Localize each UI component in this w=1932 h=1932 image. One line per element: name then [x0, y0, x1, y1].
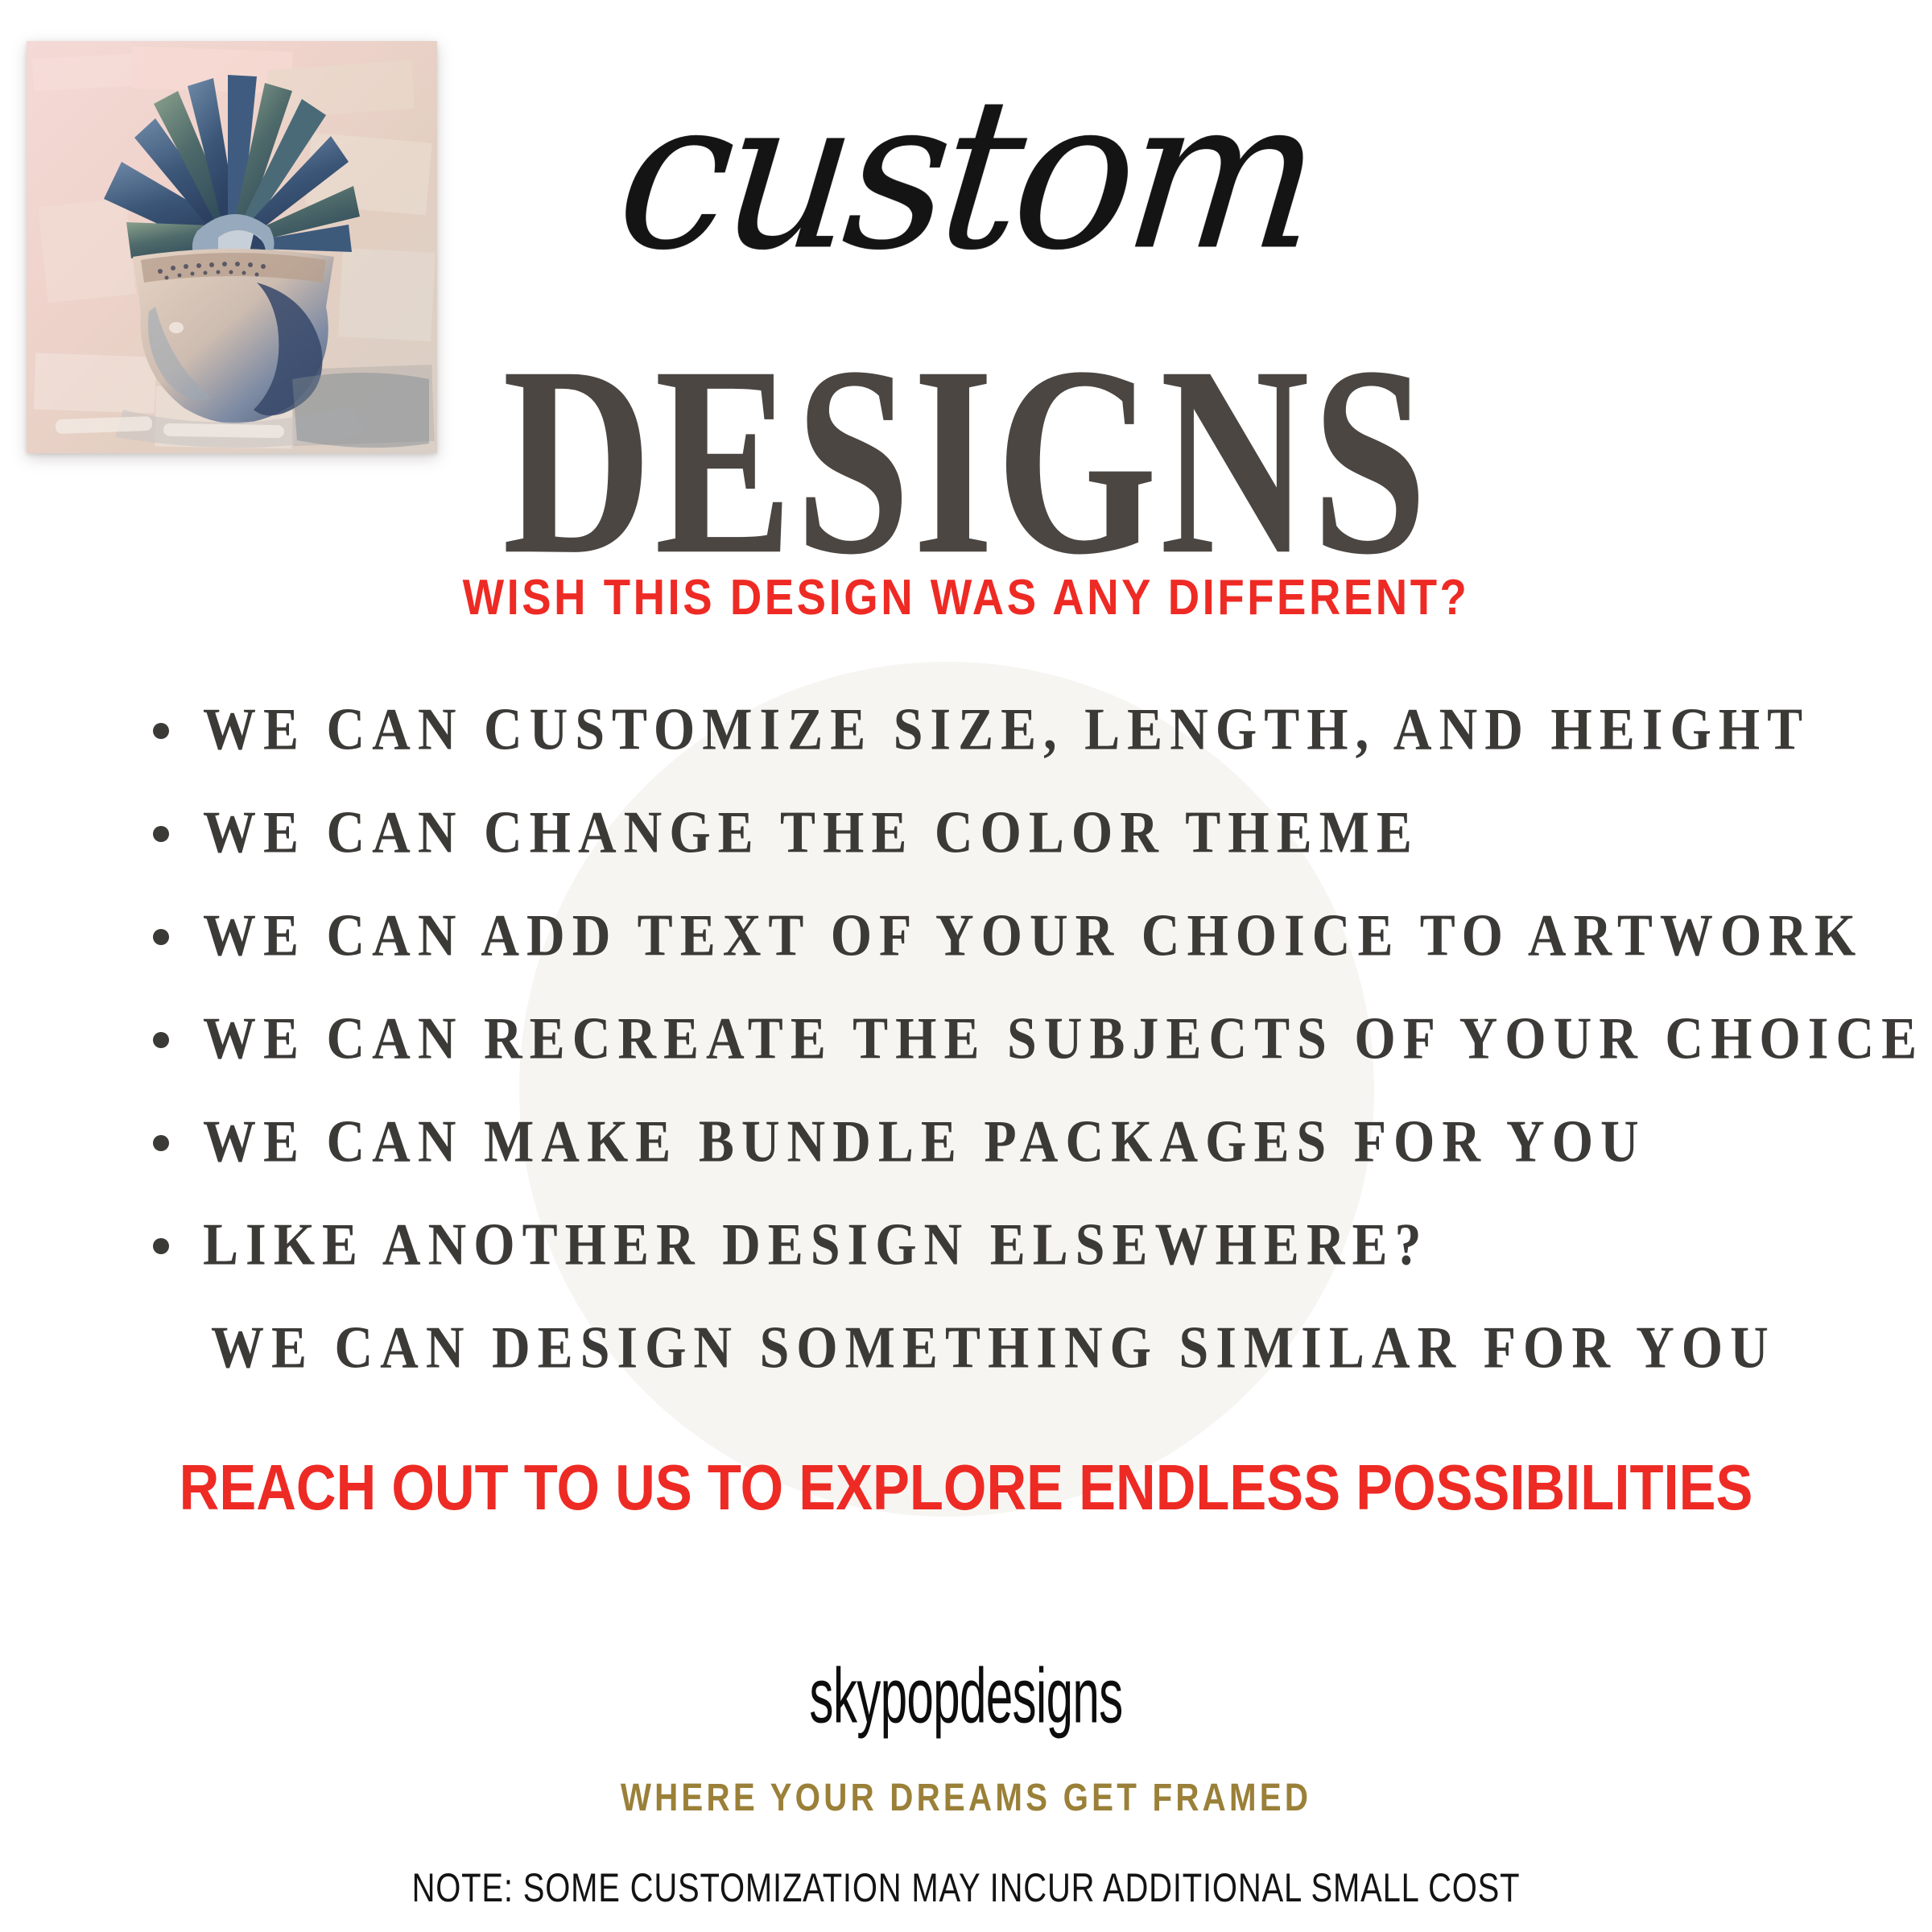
bullet-dot-icon [153, 1135, 169, 1151]
promo-canvas: custom DESIGNS WISH THIS DESIGN WAS ANY … [0, 0, 1932, 1932]
list-item-label: WE CAN CUSTOMIZE SIZE, LENGTH, AND HEIGH… [203, 700, 1810, 760]
list-item: LIKE ANOTHER DESIGN ELSEWHERE? [153, 1222, 1843, 1325]
feature-bullet-list: WE CAN CUSTOMIZE SIZE, LENGTH, AND HEIGH… [153, 707, 1843, 1428]
brand-logo-text: skypopdesigns [290, 1657, 1642, 1735]
list-item-continuation: WE CAN DESIGN SOMETHING SIMILAR FOR YOU [153, 1325, 1843, 1428]
list-item: WE CAN MAKE BUNDLE PACKAGES FOR YOU [153, 1119, 1843, 1222]
bullet-dot-icon [153, 1032, 169, 1048]
list-item-label: WE CAN RECREATE THE SUBJECTS OF YOUR CHO… [203, 1009, 1924, 1069]
page-title-designs: DESIGNS [213, 326, 1719, 597]
bullet-dot-icon [153, 826, 169, 842]
call-to-action-text: REACH OUT TO US TO EXPLORE ENDLESS POSSI… [135, 1455, 1797, 1520]
script-heading-custom: custom [0, 70, 1932, 279]
list-item-label: WE CAN CHANGE THE COLOR THEME [203, 803, 1419, 863]
brand-tagline: WHERE YOUR DREAMS GET FRAMED [155, 1779, 1777, 1818]
list-item: WE CAN RECREATE THE SUBJECTS OF YOUR CHO… [153, 1016, 1843, 1119]
bullet-dot-icon [153, 1238, 169, 1254]
list-item: WE CAN CUSTOMIZE SIZE, LENGTH, AND HEIGH… [153, 707, 1843, 810]
red-subtitle: WISH THIS DESIGN WAS ANY DIFFERENT? [116, 573, 1816, 623]
list-item-continuation-label: WE CAN DESIGN SOMETHING SIMILAR FOR YOU [211, 1319, 1776, 1378]
list-item-label: LIKE ANOTHER DESIGN ELSEWHERE? [203, 1216, 1429, 1275]
list-item-label: WE CAN MAKE BUNDLE PACKAGES FOR YOU [203, 1113, 1646, 1172]
list-item: WE CAN CHANGE THE COLOR THEME [153, 810, 1843, 913]
list-item: WE CAN ADD TEXT OF YOUR CHOICE TO ARTWOR… [153, 913, 1843, 1016]
list-item-label: WE CAN ADD TEXT OF YOUR CHOICE TO ARTWOR… [203, 906, 1863, 966]
bullet-dot-icon [153, 723, 169, 739]
bullet-dot-icon [153, 929, 169, 945]
footnote-text: NOTE: SOME CUSTOMIZATION MAY INCUR ADDIT… [193, 1868, 1739, 1908]
